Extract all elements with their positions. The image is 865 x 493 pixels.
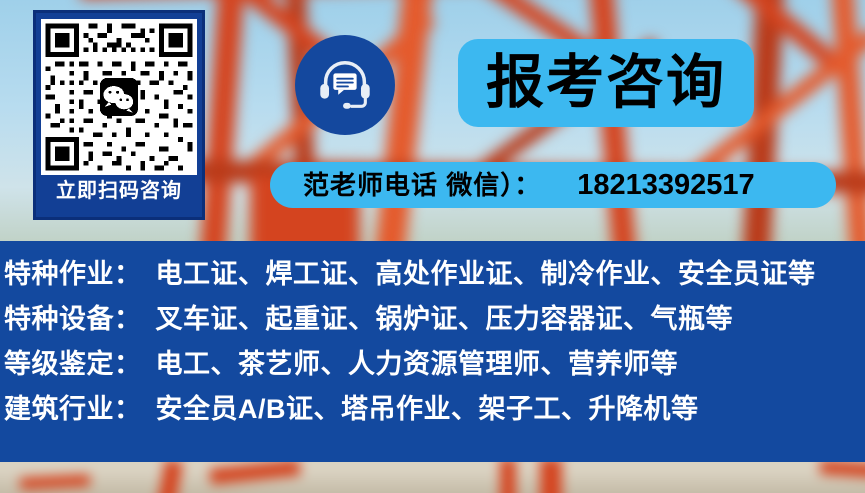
category-row-special-operations: 特种作业： 电工证、焊工证、高处作业证、制冷作业、安全员证等: [0, 261, 865, 306]
bottom-photo-strip: [0, 462, 865, 493]
course-category-panel: 特种作业： 电工证、焊工证、高处作业证、制冷作业、安全员证等 特种设备： 叉车证…: [0, 241, 865, 462]
category-items: 电工证、焊工证、高处作业证、制冷作业、安全员证等: [156, 261, 816, 288]
headset-badge: [295, 35, 395, 135]
contact-phone-pill[interactable]: 范老师电话 微信）： 18213392517: [270, 162, 836, 208]
category-label: 特种设备：: [4, 306, 142, 333]
category-items: 安全员A/B证、塔吊作业、架子工、升降机等: [156, 396, 699, 423]
category-label: 建筑行业：: [4, 396, 142, 423]
qr-card[interactable]: 立即扫码咨询: [33, 10, 205, 220]
category-row-construction-industry: 建筑行业： 安全员A/B证、塔吊作业、架子工、升降机等: [0, 396, 865, 441]
category-label: 特种作业：: [4, 261, 142, 288]
bottom-strip-blur: [0, 462, 865, 493]
headset-support-icon: [314, 54, 376, 116]
category-label: 等级鉴定：: [4, 351, 142, 378]
wechat-icon: [100, 78, 138, 116]
contact-label: 范老师电话 微信）：: [303, 172, 541, 198]
consult-title-text: 报考咨询: [486, 54, 726, 112]
qr-code-icon[interactable]: [41, 19, 197, 175]
contact-phone-number[interactable]: 18213392517: [577, 171, 754, 200]
poster-root: 立即扫码咨询 报考咨询 范老师电话 微信）： 18213392517: [0, 0, 865, 493]
category-row-special-equipment: 特种设备： 叉车证、起重证、锅炉证、压力容器证、气瓶等: [0, 306, 865, 351]
consult-title-pill[interactable]: 报考咨询: [458, 39, 754, 127]
qr-card-label: 立即扫码咨询: [56, 181, 182, 201]
category-items: 电工、茶艺师、人力资源管理师、营养师等: [156, 351, 679, 378]
category-items: 叉车证、起重证、锅炉证、压力容器证、气瓶等: [156, 306, 734, 333]
category-row-grade-certification: 等级鉴定： 电工、茶艺师、人力资源管理师、营养师等: [0, 351, 865, 396]
